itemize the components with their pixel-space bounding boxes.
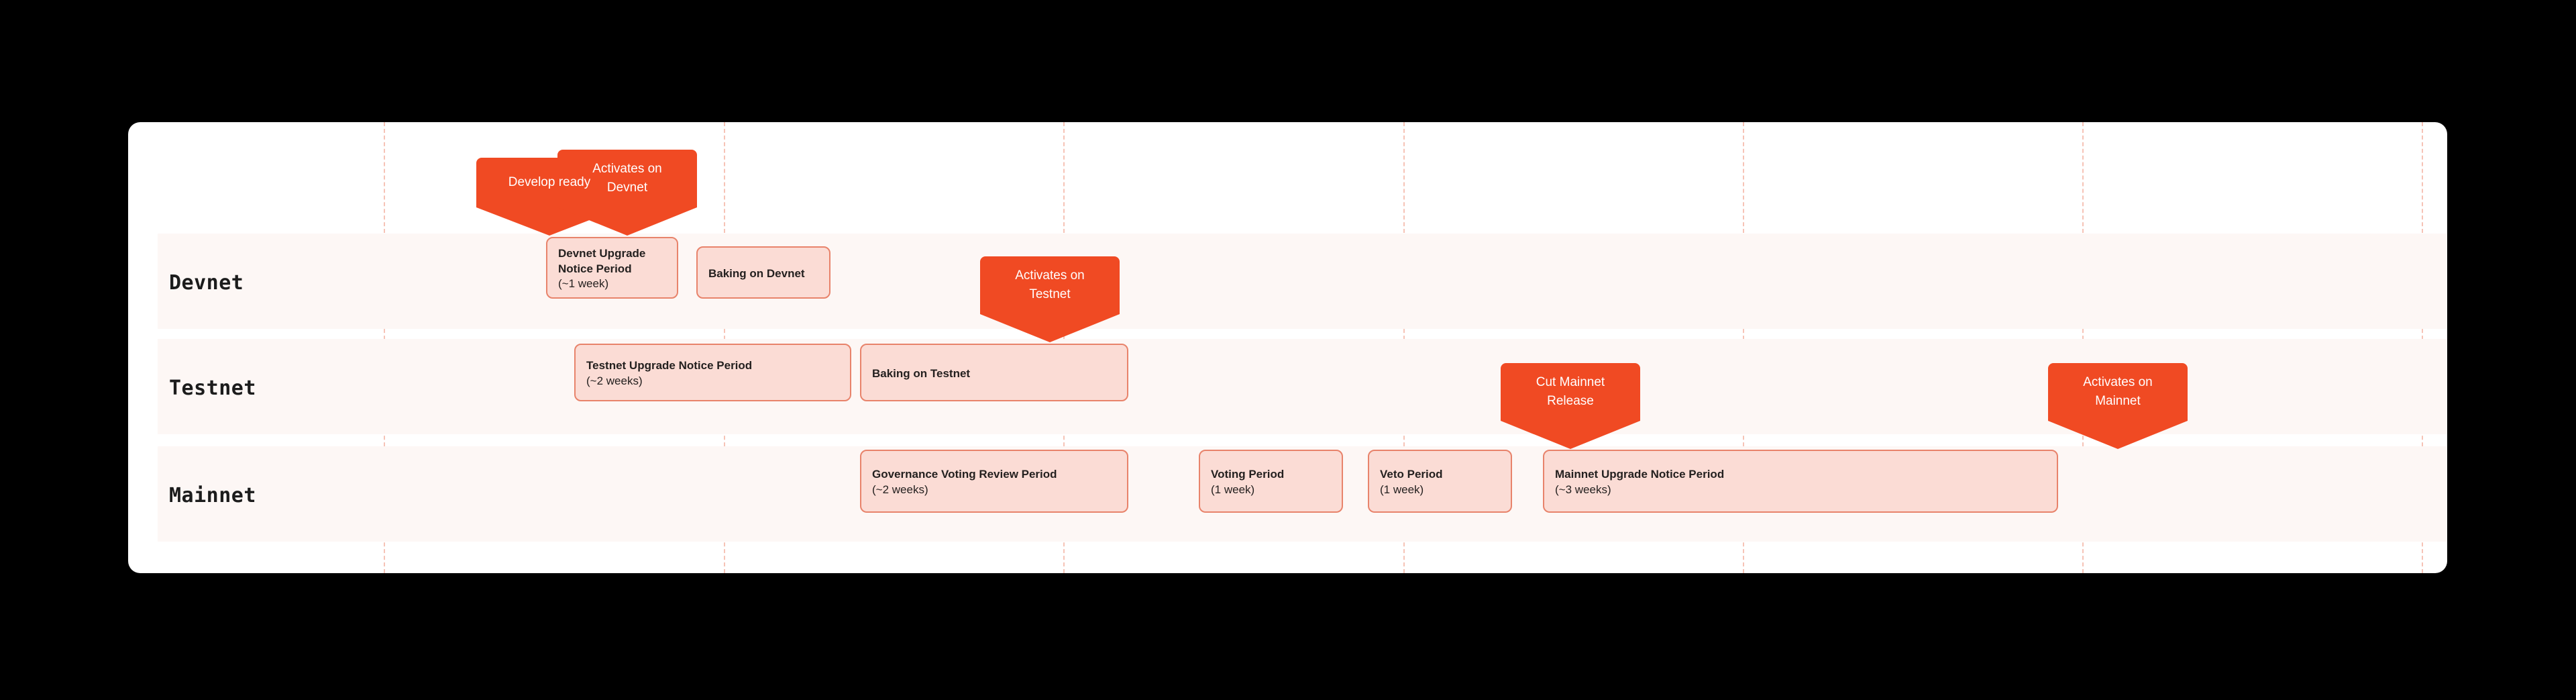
period-title: Voting Period	[1211, 467, 1331, 483]
row-label-testnet: Testnet	[169, 377, 256, 400]
row-label-mainnet: Mainnet	[169, 484, 256, 507]
badge-activates-on-mainnet[interactable]: Activates on Mainnet	[2048, 363, 2188, 421]
badge-label: Activates on Testnet	[1015, 266, 1085, 303]
period-duration: (1 week)	[1211, 483, 1331, 498]
period-duration: (~1 week)	[558, 277, 666, 292]
badge-label: Activates on Mainnet	[2083, 373, 2153, 410]
period-duration: (~2 weeks)	[872, 483, 1116, 498]
period-title: Devnet Upgrade Notice Period	[558, 246, 666, 277]
diagram-canvas: Devnet Testnet Mainnet Devnet Upgrade No…	[0, 0, 2576, 700]
period-devnet-notice[interactable]: Devnet Upgrade Notice Period (~1 week)	[546, 237, 678, 299]
period-mainnet-notice[interactable]: Mainnet Upgrade Notice Period (~3 weeks)	[1543, 450, 2058, 513]
period-title: Testnet Upgrade Notice Period	[586, 358, 839, 374]
period-testnet-notice[interactable]: Testnet Upgrade Notice Period (~2 weeks)	[574, 344, 851, 401]
period-duration: (~2 weeks)	[586, 374, 839, 389]
badge-label: Activates on Devnet	[592, 160, 662, 197]
period-title: Veto Period	[1380, 467, 1500, 483]
timeline-card: Devnet Testnet Mainnet Devnet Upgrade No…	[128, 122, 2447, 573]
badge-label: Develop ready	[508, 173, 591, 192]
period-title: Governance Voting Review Period	[872, 467, 1116, 483]
period-title: Mainnet Upgrade Notice Period	[1555, 467, 2046, 483]
period-veto[interactable]: Veto Period (1 week)	[1368, 450, 1512, 513]
badge-label: Cut Mainnet Release	[1536, 373, 1605, 410]
period-devnet-baking[interactable]: Baking on Devnet	[696, 246, 830, 299]
period-title: Baking on Testnet	[872, 366, 1116, 382]
period-duration: (1 week)	[1380, 483, 1500, 498]
period-voting[interactable]: Voting Period (1 week)	[1199, 450, 1343, 513]
period-duration: (~3 weeks)	[1555, 483, 2046, 498]
period-governance-review[interactable]: Governance Voting Review Period (~2 week…	[860, 450, 1128, 513]
period-title: Baking on Devnet	[708, 266, 818, 282]
row-band-devnet	[158, 234, 2447, 329]
badge-activates-on-testnet[interactable]: Activates on Testnet	[980, 256, 1120, 314]
period-testnet-baking[interactable]: Baking on Testnet	[860, 344, 1128, 401]
row-label-devnet: Devnet	[169, 271, 244, 295]
badge-cut-mainnet-release[interactable]: Cut Mainnet Release	[1501, 363, 1640, 421]
